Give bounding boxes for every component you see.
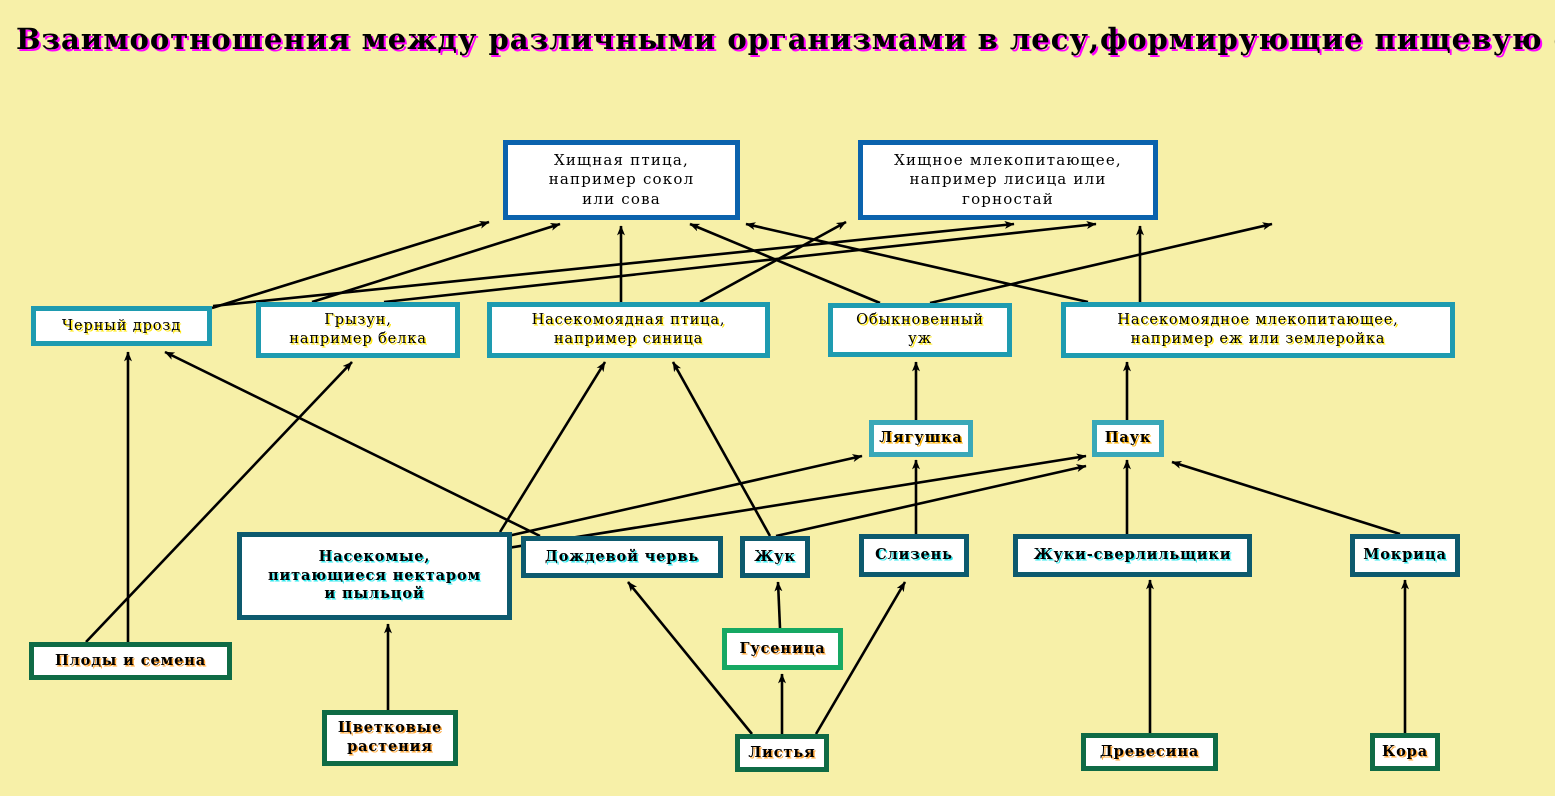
node-hawk[interactable]: Хищная птица, например сокол или сова [503,140,740,220]
node-blackbird[interactable]: Черный дрозд [31,306,212,346]
arrow-blackbird-to-fox [213,224,1014,306]
arrow-woodlouse-to-spider [1172,462,1400,534]
arrow-nectar-to-titmouse [500,362,605,532]
node-flowering-plants[interactable]: Цветковые растения [322,710,458,766]
node-wood[interactable]: Древесина [1081,733,1218,771]
node-borer-beetles[interactable]: Жуки-сверлильщики [1013,534,1252,577]
node-slug[interactable]: Слизень [859,534,969,577]
arrow-hedgehog-to-hawk [746,224,1088,302]
arrow-caterpillar-to-beetle [778,582,780,628]
node-snake[interactable]: Обыкновенный уж [828,303,1012,357]
node-rodent[interactable]: Грызун, например белка [256,302,460,358]
arrow-earthworm-to-blackbird [165,352,540,536]
node-caterpillar[interactable]: Гусеница [722,628,843,670]
food-web-diagram: Взаимоотношения между различными организ… [0,0,1555,796]
node-leaves[interactable]: Листья [735,734,829,772]
node-woodlouse[interactable]: Мокрица [1350,534,1460,577]
arrow-nectar-to-frog [508,456,862,536]
node-earthworm[interactable]: Дождевой червь [521,536,723,578]
node-nectar-insects[interactable]: Насекомые, питающиеся нектаром и пыльцой [237,532,512,620]
arrow-beetle-to-spider [776,466,1086,536]
arrow-layer [0,0,1555,796]
node-frog[interactable]: Лягушка [869,420,973,457]
node-bark[interactable]: Кора [1370,733,1440,771]
node-fox[interactable]: Хищное млекопитающее, например лисица ил… [858,140,1158,220]
node-titmouse[interactable]: Насекомоядная птица, например синица [487,302,770,358]
arrow-titmouse-to-fox [700,222,846,302]
arrow-rodent-to-hawk [312,224,560,302]
node-beetle[interactable]: Жук [740,536,810,578]
node-hedgehog[interactable]: Насекомоядное млекопитающее, например еж… [1061,302,1455,358]
node-spider[interactable]: Паук [1092,420,1164,457]
node-fruits-seeds[interactable]: Плоды и семена [29,642,232,680]
